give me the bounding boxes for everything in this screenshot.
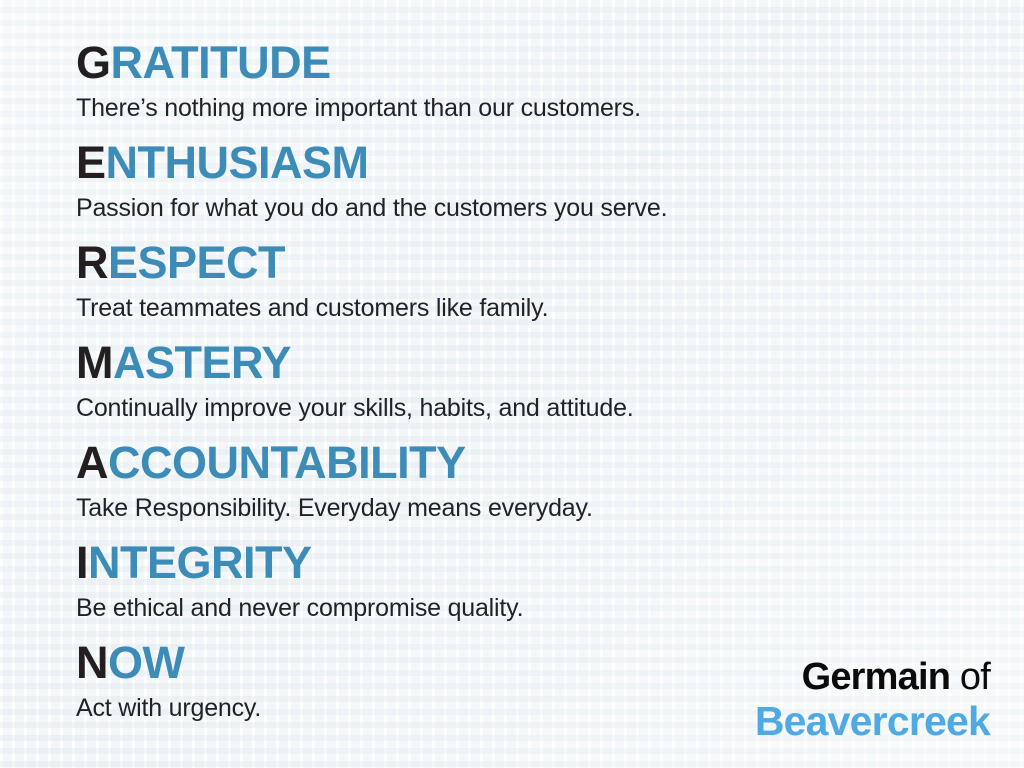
value-initial: E <box>76 137 106 188</box>
value-description-enthusiasm: Passion for what you do and the customer… <box>76 192 1024 224</box>
value-block-accountability: ACCOUNTABILITY Take Responsibility. Ever… <box>76 436 1024 520</box>
value-description-integrity: Be ethical and never compromise quality. <box>76 592 1024 624</box>
value-description-mastery: Continually improve your skills, habits,… <box>76 392 1024 424</box>
value-description-accountability: Take Responsibility. Everyday means ever… <box>76 492 1024 524</box>
logo-location: Beavercreek <box>755 698 990 744</box>
value-description-respect: Treat teammates and customers like famil… <box>76 292 1024 324</box>
value-initial: G <box>76 37 111 88</box>
logo-line-primary: Germain of <box>755 656 990 698</box>
logo-connector: of <box>950 656 990 698</box>
value-word: RATITUDE <box>111 37 331 88</box>
value-word: CCOUNTABILITY <box>108 437 466 488</box>
value-block-integrity: INTEGRITY Be ethical and never compromis… <box>76 536 1024 620</box>
logo-brand-name: Germain <box>802 656 951 698</box>
value-heading-enthusiasm: ENTHUSIASM <box>76 136 1024 190</box>
value-heading-gratitude: GRATITUDE <box>76 36 1024 90</box>
value-word: ESPECT <box>108 237 285 288</box>
values-poster: GRATITUDE There’s nothing more important… <box>0 0 1024 768</box>
value-heading-accountability: ACCOUNTABILITY <box>76 436 1024 490</box>
value-initial: A <box>76 437 108 488</box>
value-block-mastery: MASTERY Continually improve your skills,… <box>76 336 1024 420</box>
values-list: GRATITUDE There’s nothing more important… <box>0 0 1024 724</box>
value-initial: R <box>76 237 108 288</box>
value-heading-respect: RESPECT <box>76 236 1024 290</box>
value-block-respect: RESPECT Treat teammates and customers li… <box>76 236 1024 320</box>
value-block-gratitude: GRATITUDE There’s nothing more important… <box>76 36 1024 120</box>
value-heading-mastery: MASTERY <box>76 336 1024 390</box>
value-word: NTHUSIASM <box>106 137 369 188</box>
value-description-gratitude: There’s nothing more important than our … <box>76 92 1024 124</box>
value-initial: N <box>76 637 108 688</box>
value-word: NTEGRITY <box>88 537 312 588</box>
value-block-enthusiasm: ENTHUSIASM Passion for what you do and t… <box>76 136 1024 220</box>
value-heading-integrity: INTEGRITY <box>76 536 1024 590</box>
dealership-logo: Germain of Beavercreek <box>755 656 990 744</box>
value-initial: I <box>76 537 88 588</box>
value-initial: M <box>76 337 113 388</box>
value-word: ASTERY <box>113 337 291 388</box>
value-word: OW <box>108 637 184 688</box>
